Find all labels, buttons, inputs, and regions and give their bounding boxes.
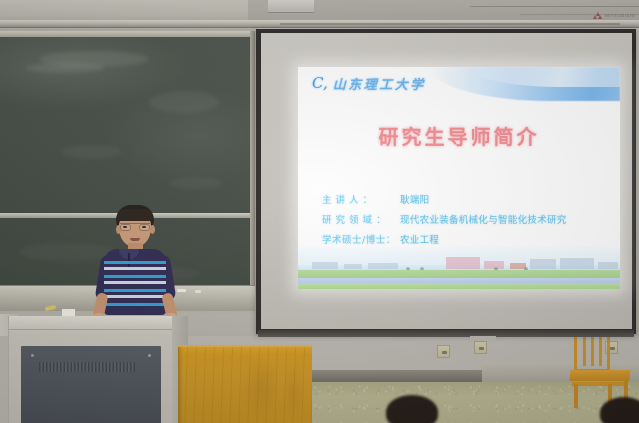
chair-slat bbox=[583, 332, 586, 366]
wall-outlet bbox=[474, 341, 487, 354]
podium-top-surface bbox=[9, 316, 180, 330]
screen-surface: C, 山东理工大学 研究生导师简介 主 讲 人 ： 耿端阳 研 究 领 域 ： … bbox=[261, 33, 632, 329]
presenter-mouth bbox=[130, 238, 140, 241]
desk-shadow bbox=[178, 347, 183, 423]
presenter-placket bbox=[128, 253, 130, 267]
ceiling-vent-box bbox=[268, 0, 314, 13]
slide-line: 主 讲 人 ： 耿端阳 bbox=[322, 192, 610, 206]
slide-line: 学术硕士/博士： 农业工程 bbox=[322, 232, 610, 246]
shirt-stripe bbox=[104, 295, 166, 298]
logo-mark-icon: C, bbox=[312, 76, 328, 91]
podium bbox=[8, 316, 180, 423]
mitsubishi-diamond-icon bbox=[594, 12, 602, 19]
university-logo: C, 山东理工大学 bbox=[312, 74, 426, 93]
presenter bbox=[92, 205, 178, 325]
shirt-stripe bbox=[104, 261, 166, 264]
slide-line-label: 研 究 领 域 ： bbox=[322, 212, 400, 226]
photo-foreground-band bbox=[298, 283, 620, 289]
paper-sheet bbox=[62, 309, 75, 316]
shirt-stripe bbox=[104, 281, 166, 284]
slide-line-label: 学术硕士/博士： bbox=[322, 232, 400, 246]
slide-title: 研究生导师简介 bbox=[298, 121, 620, 150]
shirt-stripe bbox=[104, 275, 166, 278]
chair-leg bbox=[574, 384, 578, 408]
campus-panorama-photo bbox=[298, 247, 620, 289]
chalkboard-right-edge bbox=[250, 31, 255, 311]
audience-head bbox=[386, 395, 438, 423]
projection-screen: C, 山东理工大学 研究生导师简介 主 讲 人 ： 耿端阳 研 究 领 域 ： … bbox=[256, 29, 636, 334]
chair-seat bbox=[569, 370, 630, 381]
panel-vent-grille bbox=[39, 362, 135, 372]
slide-line-value: 耿端阳 bbox=[400, 192, 429, 206]
ceiling-tile-seam bbox=[470, 6, 639, 7]
projector-brand-logo: MITSUBISHI bbox=[594, 12, 635, 19]
shirt-stripe bbox=[104, 289, 166, 292]
chair-apron bbox=[572, 382, 628, 386]
presenter-hair-front bbox=[117, 209, 153, 221]
slide-line-value: 农业工程 bbox=[400, 232, 439, 246]
wall-outlet bbox=[437, 345, 450, 358]
presenter-ear-right bbox=[150, 225, 155, 234]
wall-rail-slot bbox=[280, 23, 620, 25]
university-logo-text: 山东理工大学 bbox=[333, 74, 426, 93]
slide-line: 研 究 领 域 ： 现代农业装备机械化与智能化技术研究 bbox=[322, 212, 610, 226]
presenter-eye-right bbox=[142, 226, 146, 228]
screen-wall-bracket bbox=[470, 336, 496, 341]
wooden-chair bbox=[568, 326, 634, 406]
podium-equipment-panel bbox=[21, 346, 161, 423]
chair-slat bbox=[599, 332, 602, 366]
slide-line-value: 现代农业装备机械化与智能化技术研究 bbox=[400, 212, 567, 226]
screen-bottom-bar bbox=[258, 330, 634, 337]
desk-wood-grain bbox=[178, 347, 312, 423]
presenter-eye-left bbox=[123, 226, 127, 228]
baseboard bbox=[312, 370, 482, 382]
classroom-scene: C, 山东理工大学 研究生导师简介 主 讲 人 ： 耿端阳 研 究 领 域 ： … bbox=[0, 0, 639, 423]
chair-slat bbox=[591, 332, 594, 366]
shirt-stripe bbox=[104, 267, 166, 270]
projected-slide: C, 山东理工大学 研究生导师简介 主 讲 人 ： 耿端阳 研 究 领 域 ： … bbox=[298, 67, 620, 289]
wooden-desk bbox=[178, 345, 312, 423]
shirt-stripe bbox=[104, 303, 166, 306]
audience-head bbox=[600, 397, 639, 423]
slide-line-label: 主 讲 人 ： bbox=[322, 192, 400, 206]
projector-brand-text: MITSUBISHI bbox=[605, 13, 635, 18]
